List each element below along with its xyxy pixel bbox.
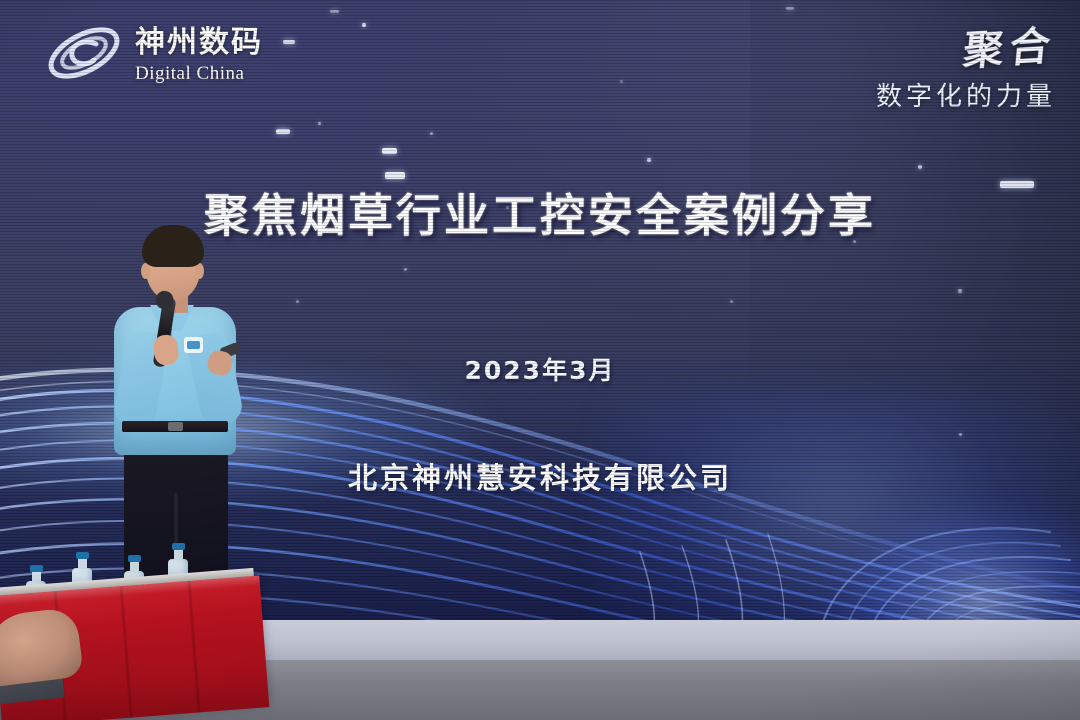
event-subline: 数字化的力量 bbox=[876, 76, 1056, 113]
event-headline: 聚合 bbox=[961, 13, 1059, 77]
presenter-chest-logo bbox=[184, 337, 203, 353]
screen-glow-swirl bbox=[600, 392, 1080, 622]
digital-china-swirl-icon bbox=[42, 18, 126, 88]
stage-photo: 神州数码 Digital China 聚合 数字化的力量 聚焦烟草行业工控安全案… bbox=[0, 0, 1080, 720]
presenter-hair bbox=[142, 225, 204, 267]
seated-attendee-arm bbox=[0, 606, 84, 687]
event-brand: 聚合 数字化的力量 bbox=[876, 16, 1056, 113]
presenter-belt-buckle bbox=[168, 422, 183, 431]
brand-name-en: Digital China bbox=[135, 64, 263, 83]
brand-name-cn: 神州数码 bbox=[135, 28, 263, 58]
digital-china-brand: 神州数码 Digital China bbox=[42, 18, 263, 88]
